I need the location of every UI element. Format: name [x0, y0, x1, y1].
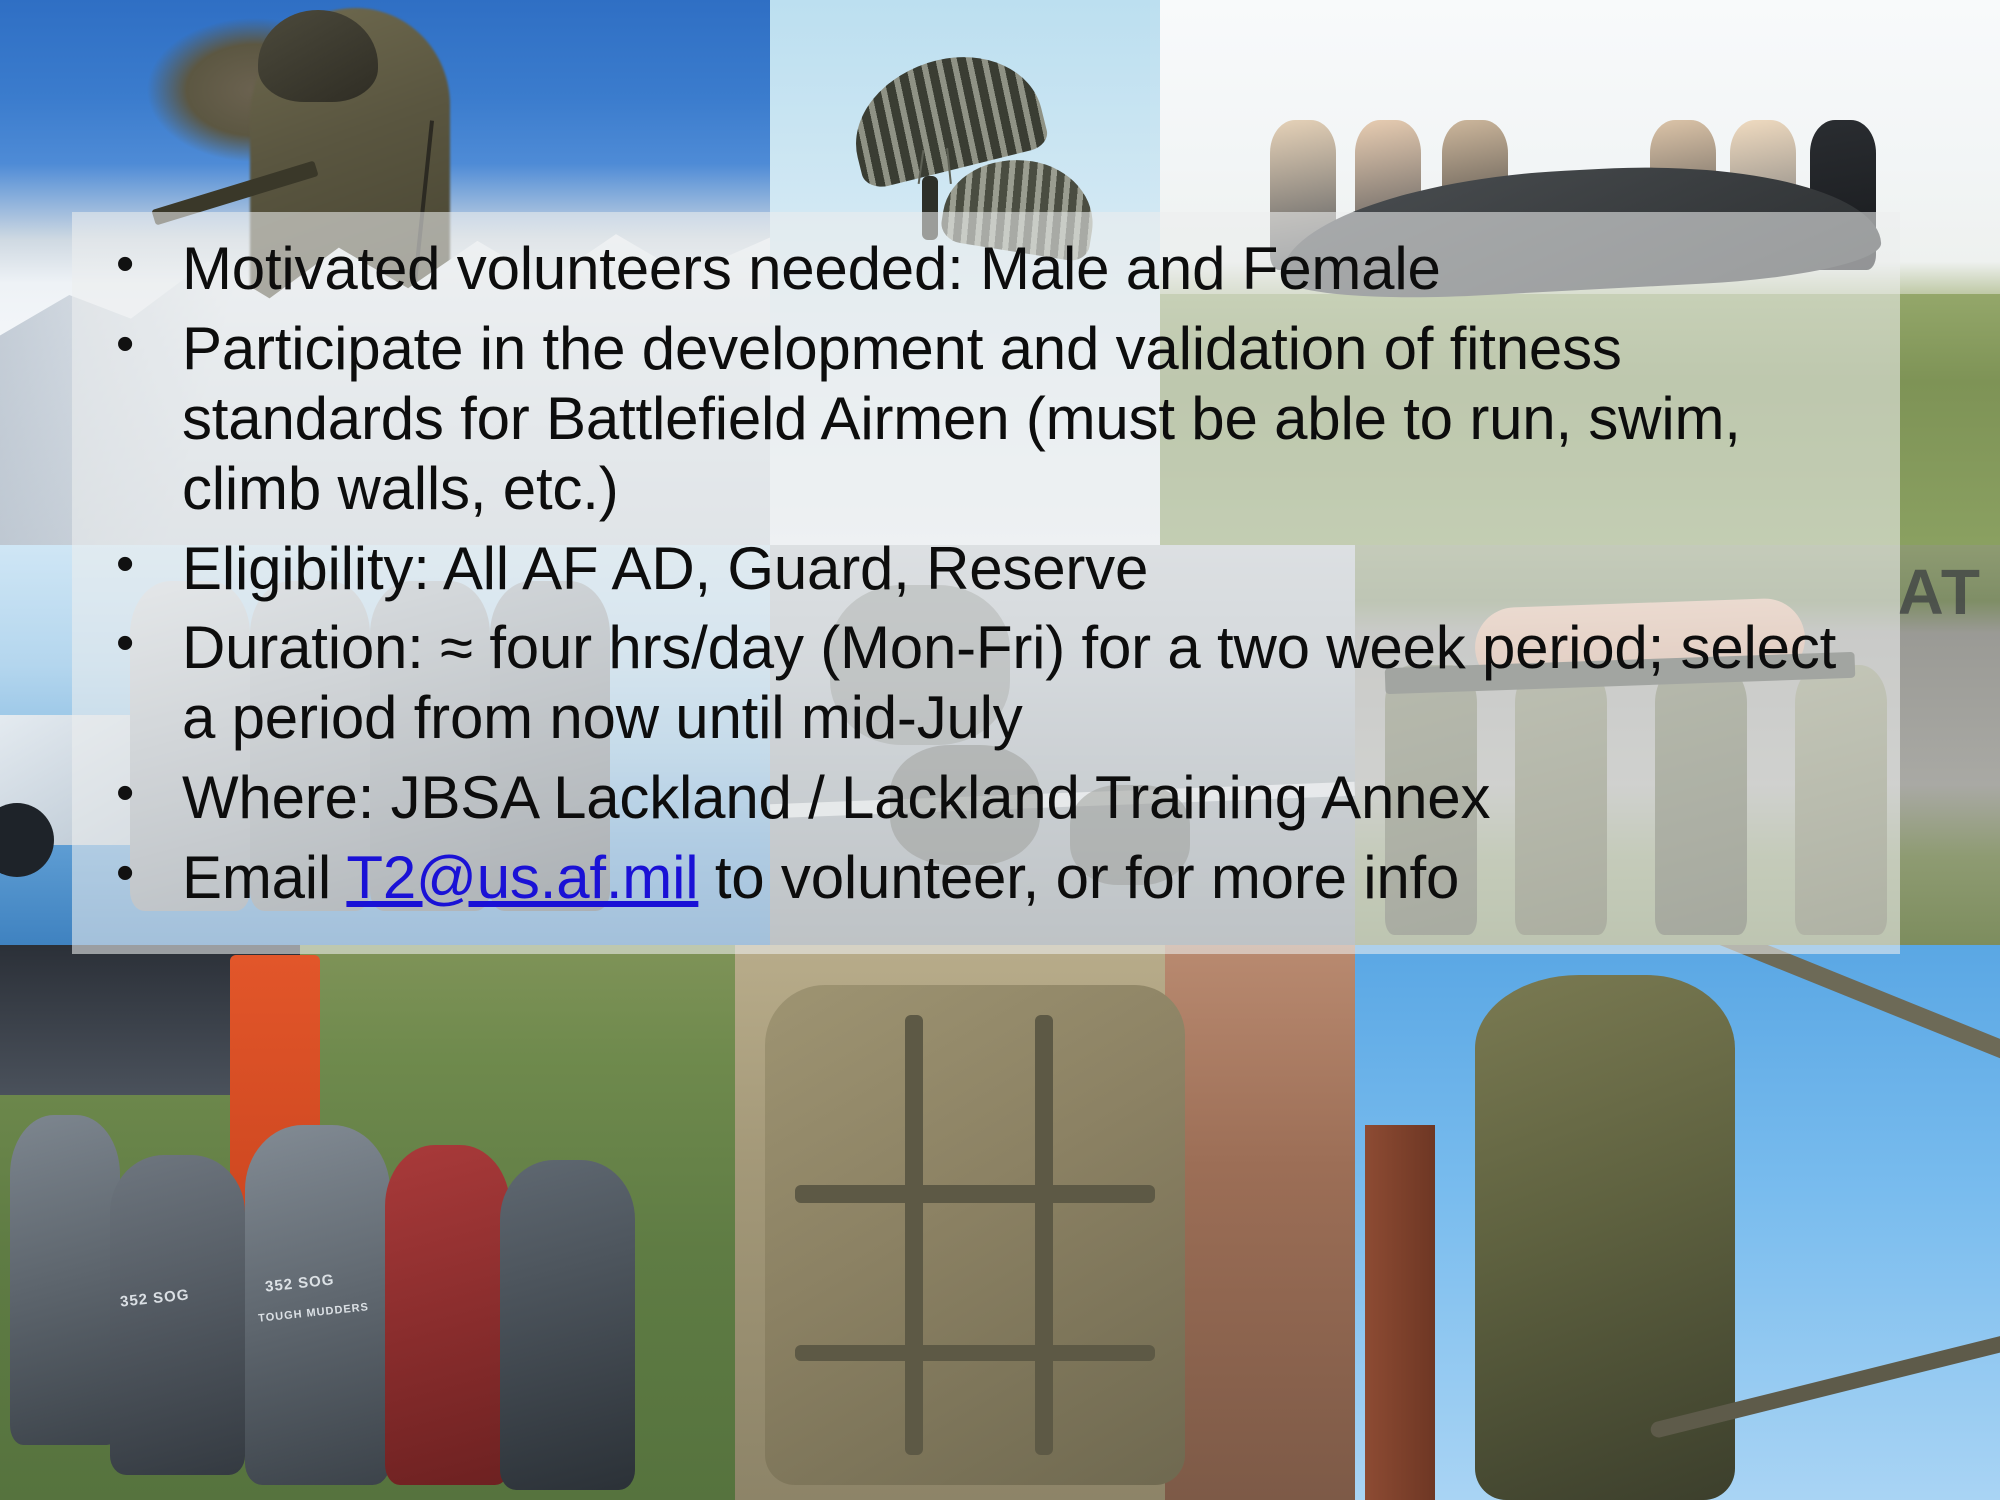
- slide-canvas: AT 352 SOG 352 SOG TOUGH MUDDERS: [0, 0, 2000, 1500]
- email-suffix: to volunteer, or for more info: [698, 844, 1459, 911]
- bullet-where: Where: JBSA Lackland / Lackland Training…: [98, 763, 1874, 833]
- huddle-person-2: [110, 1155, 245, 1475]
- bullet-eligibility: Eligibility: All AF AD, Guard, Reserve: [98, 534, 1874, 604]
- ruck-strap-vertical-2: [1035, 1015, 1053, 1455]
- bullet-volunteers: Motivated volunteers needed: Male and Fe…: [98, 234, 1874, 304]
- email-link[interactable]: T2@us.af.mil: [346, 844, 698, 911]
- email-prefix: Email: [182, 844, 346, 911]
- bullet-email: Email T2@us.af.mil to volunteer, or for …: [98, 843, 1874, 913]
- huddle-person-5: [500, 1160, 635, 1490]
- bullet-duration: Duration: ≈ four hrs/day (Mon-Fri) for a…: [98, 613, 1874, 753]
- text-overlay-panel: Motivated volunteers needed: Male and Fe…: [72, 212, 1900, 954]
- photo-team-huddle: 352 SOG 352 SOG TOUGH MUDDERS: [0, 945, 735, 1500]
- photo-wall-climb: [1355, 945, 2000, 1500]
- bullet-participate: Participate in the development and valid…: [98, 314, 1874, 524]
- background-figure: [1165, 945, 1355, 1500]
- bullet-list: Motivated volunteers needed: Male and Fe…: [98, 234, 1874, 913]
- rucksack-body: [765, 985, 1185, 1485]
- photo-rucksack: [735, 945, 1355, 1500]
- huddle-person-1: [10, 1115, 120, 1445]
- huddle-person-4: [385, 1145, 510, 1485]
- wooden-post: [1365, 1125, 1435, 1500]
- ruck-strap-vertical-1: [905, 1015, 923, 1455]
- wall-sign-text: AT: [1897, 555, 1982, 629]
- ruck-strap-lower: [795, 1345, 1155, 1361]
- ruck-strap-horizontal: [795, 1185, 1155, 1203]
